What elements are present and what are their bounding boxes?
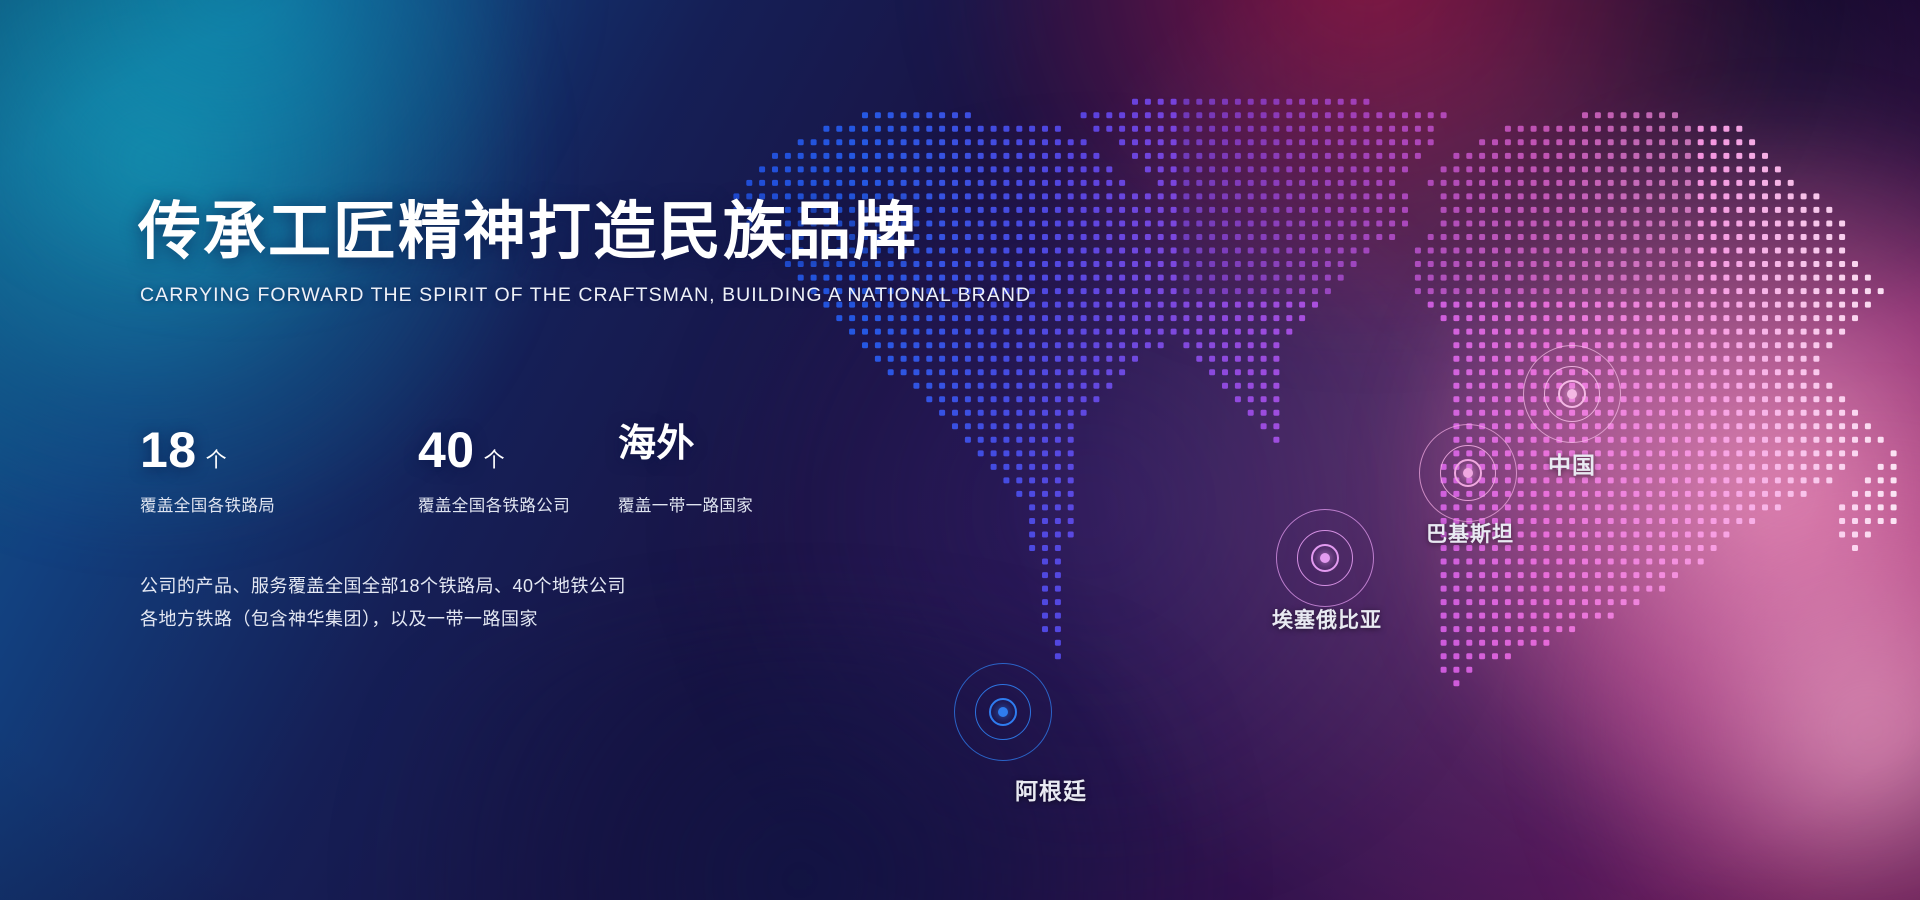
- page-subtitle: CARRYING FORWARD THE SPIRIT OF THE CRAFT…: [140, 284, 1038, 307]
- stat-value-row: 40 个: [418, 425, 618, 483]
- paragraph-line-1: 公司的产品、服务覆盖全国全部18个铁路局、40个地铁公司: [140, 570, 626, 603]
- hero-banner: 中国巴基斯坦埃塞俄比亚阿根廷 传承工匠精神打造民族品牌 CARRYING FOR…: [0, 0, 1920, 900]
- stat-value: 40: [418, 425, 475, 475]
- stat-value: 海外: [618, 425, 695, 463]
- stat-value-row: 18 个: [140, 425, 418, 483]
- marker-dot: [1463, 468, 1473, 478]
- stat-item: 18 个 覆盖全国各铁路局: [140, 425, 418, 516]
- paragraph-line-2: 各地方铁路（包含神华集团），以及一带一路国家: [140, 603, 626, 636]
- stats-row: 18 个 覆盖全国各铁路局 40 个 覆盖全国各铁路公司 海外 覆盖一带一路国家: [140, 425, 753, 516]
- map-marker-label: 巴基斯坦: [1426, 518, 1514, 548]
- marker-dot: [1320, 553, 1330, 563]
- stat-description: 覆盖全国各铁路局: [140, 492, 418, 516]
- description-paragraph: 公司的产品、服务覆盖全国全部18个铁路局、40个地铁公司 各地方铁路（包含神华集…: [140, 570, 626, 637]
- stat-item: 40 个 覆盖全国各铁路公司: [418, 425, 618, 516]
- stat-value: 18: [140, 425, 197, 475]
- stat-unit: 个: [206, 444, 227, 474]
- hero-text-block: 传承工匠精神打造民族品牌 CARRYING FORWARD THE SPIRIT…: [138, 198, 1038, 307]
- stat-description: 覆盖全国各铁路公司: [418, 492, 618, 516]
- marker-dot: [1567, 389, 1577, 399]
- map-marker-label: 中国: [1548, 446, 1596, 480]
- page-title: 传承工匠精神打造民族品牌: [138, 198, 1038, 266]
- marker-dot: [998, 707, 1008, 717]
- map-marker-label: 阿根廷: [1015, 772, 1087, 806]
- stat-unit: 个: [484, 444, 505, 474]
- stat-value-row: 海外: [618, 425, 753, 483]
- map-marker-label: 埃塞俄比亚: [1272, 604, 1382, 634]
- stat-description: 覆盖一带一路国家: [618, 492, 753, 516]
- stat-item: 海外 覆盖一带一路国家: [618, 425, 753, 516]
